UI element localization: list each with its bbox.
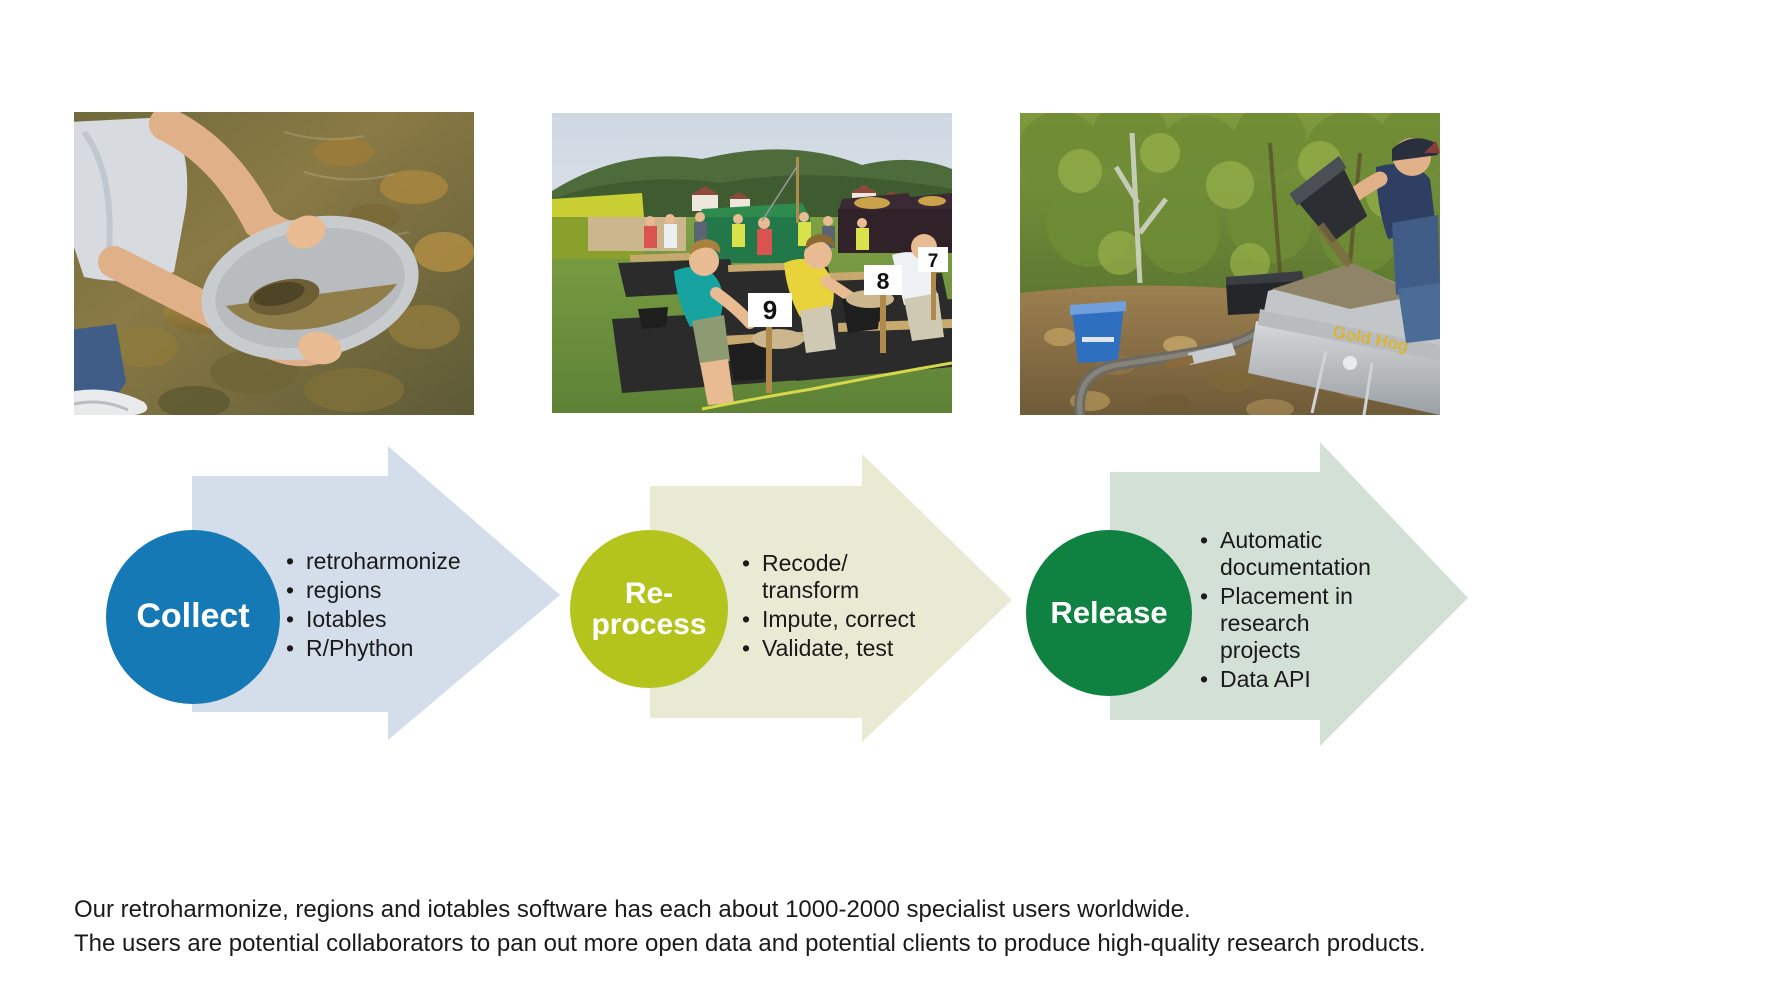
list-item: Data API xyxy=(1200,666,1390,693)
list-item: Automatic documentation xyxy=(1200,527,1390,581)
stage-title-release: Release xyxy=(1050,597,1167,630)
list-item: R/Phython xyxy=(286,635,506,662)
photo-sluice-box-operation: Gold Hog xyxy=(1020,113,1440,415)
stage-title-reprocess: Re- process xyxy=(591,578,706,641)
list-item: Recode/ transform xyxy=(742,550,942,604)
stage-bullets-release: Automatic documentation Placement in res… xyxy=(1200,527,1390,694)
list-item: Validate, test xyxy=(742,635,942,662)
gold-panning-illustration xyxy=(74,112,474,415)
svg-text:9: 9 xyxy=(763,295,777,325)
stage-title-line1: Re- xyxy=(625,577,673,610)
svg-text:8: 8 xyxy=(877,268,890,294)
photo-gold-panning-competition: 9 8 7 xyxy=(552,113,952,413)
stage-circle-reprocess[interactable]: Re- process xyxy=(570,530,728,688)
list-item: Iotables xyxy=(286,606,506,633)
stage-title-collect: Collect xyxy=(136,599,249,635)
list-item: retroharmonize xyxy=(286,548,506,575)
sluice-box-illustration: Gold Hog xyxy=(1020,113,1440,415)
photo-gold-panning-in-stream xyxy=(74,112,474,415)
caption-text: Our retroharmonize, regions and iotables… xyxy=(74,893,1574,961)
stage-bullets-reprocess: Recode/ transform Impute, correct Valida… xyxy=(742,550,942,664)
stage-circle-collect[interactable]: Collect xyxy=(106,530,280,704)
stage-bullets-collect: retroharmonize regions Iotables R/Phytho… xyxy=(286,548,506,664)
list-item: Placement in research projects xyxy=(1200,583,1390,664)
list-item: regions xyxy=(286,577,506,604)
caption-line-1: Our retroharmonize, regions and iotables… xyxy=(74,893,1574,927)
caption-line-2: The users are potential collaborators to… xyxy=(74,927,1574,961)
panning-competition-illustration: 9 8 7 xyxy=(552,113,952,413)
list-item: Impute, correct xyxy=(742,606,942,633)
stage-circle-release[interactable]: Release xyxy=(1026,530,1192,696)
svg-text:7: 7 xyxy=(928,251,939,272)
stage-title-line2: process xyxy=(591,608,706,641)
